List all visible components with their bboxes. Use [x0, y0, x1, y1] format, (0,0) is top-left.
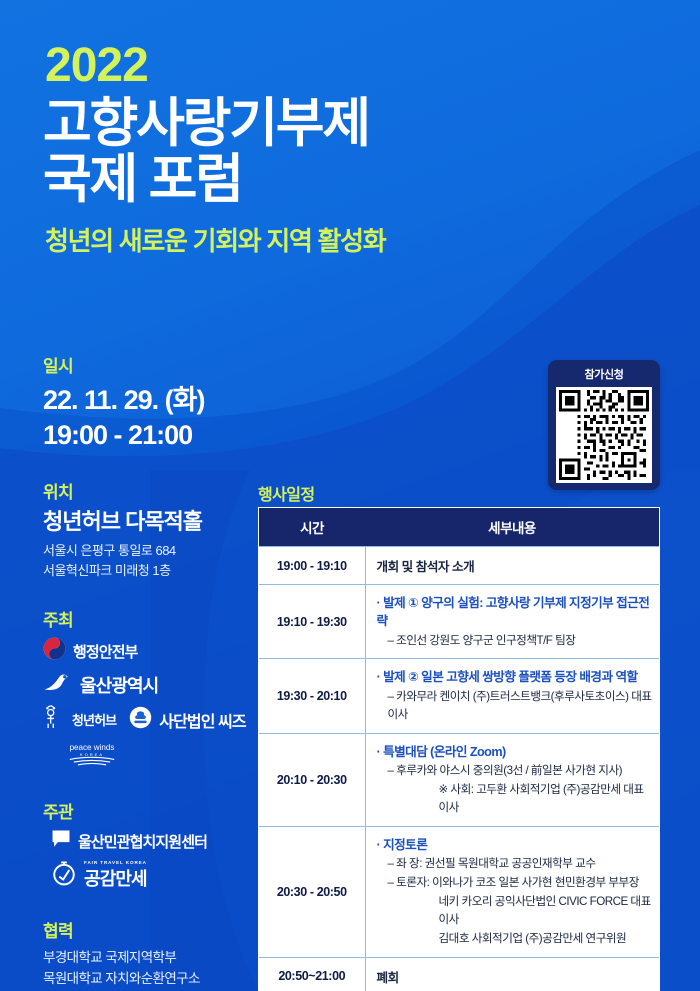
- table-row: 20:50~21:00 폐회: [259, 957, 659, 991]
- hosts-block: 주최 행정안전부 울산광역시: [43, 606, 258, 772]
- schedule-table: 시간 세부내용 19:00 - 19:10 개회 및 참석자 소개 19:10 …: [259, 508, 659, 991]
- organizer-name-ulsan-center: 울산민관협치지원센터: [78, 831, 207, 852]
- row-detail: · 지정토론 – 좌 장: 권선필 목원대학교 공공인재학부 교수 – 토론자:…: [365, 826, 659, 957]
- row-time: 20:10 - 20:30: [259, 733, 365, 826]
- title-line-2: 국제 포럼: [43, 152, 513, 208]
- cooperation-block: 협력 부경대학교 국제지역학부 목원대학교 자치와순환연구소 OH MY EAR…: [43, 917, 258, 991]
- row-time: 19:10 - 19:30: [259, 585, 365, 659]
- table-header-row: 시간 세부내용: [259, 508, 659, 547]
- youth-hub-icon: [43, 704, 65, 735]
- compass-icon: [51, 860, 77, 891]
- poster-header: 2022 고향사랑기부제 국제 포럼 청년의 새로운 기회와 지역 활성화: [43, 42, 513, 254]
- row-detail-head: · 특별대담 (온라인 Zoom): [377, 743, 654, 761]
- location-label: 위치: [43, 478, 258, 503]
- row-detail: · 특별대담 (온라인 Zoom) – 후루카와 야스시 중의원(3선 / 前일…: [365, 733, 659, 826]
- row-detail-head: · 발제 ② 일본 고향세 쌍방향 플랫폼 등장 배경과 역할: [377, 668, 654, 686]
- row-detail-sub: – 후루카와 야스시 중의원(3선 / 前일본 사가현 지사): [377, 762, 654, 780]
- registration-qr-card[interactable]: 참가신청: [548, 360, 660, 490]
- location-block: 위치 청년허브 다목적홀 서울시 은평구 통일로 684 서울혁신파크 미래청 …: [43, 478, 258, 580]
- row-detail-sub: – 카와무라 켄이치 (주)트러스트뱅크(후루사토초이스) 대표이사: [377, 688, 654, 724]
- svg-text:peace winds: peace winds: [70, 743, 115, 752]
- row-detail-head: · 지정토론: [377, 836, 654, 854]
- qr-caption: 참가신청: [548, 360, 660, 387]
- row-time: 19:00 - 19:10: [259, 547, 365, 585]
- taegeuk-icon: [43, 637, 66, 665]
- host-name-moi: 행정안전부: [73, 641, 138, 662]
- organizer-gonggam-text: FAIR TRAVEL KOREA 공감만세: [84, 861, 147, 892]
- title-line-1: 고향사랑기부제: [43, 94, 369, 153]
- table-row: 20:10 - 20:30 · 특별대담 (온라인 Zoom) – 후루카와 야…: [259, 733, 659, 826]
- cooperation-label: 협력: [43, 917, 258, 942]
- datetime-label: 일시: [43, 352, 258, 377]
- host-logo-moi: 행정안전부: [43, 637, 258, 665]
- row-detail: 폐회: [365, 957, 659, 991]
- table-row: 20:30 - 20:50 · 지정토론 – 좌 장: 권선필 목원대학교 공공…: [259, 826, 659, 957]
- poster-subtitle: 청년의 새로운 기회와 지역 활성화: [45, 228, 513, 254]
- host-name-youth-hub: 청년허브: [72, 710, 116, 729]
- host-logo-row-youth-seeds: 청년허브 사단법인 씨즈: [43, 704, 258, 735]
- cooperation-line-1: 부경대학교 국제지역학부: [43, 948, 258, 968]
- info-column: 일시 22. 11. 29. (화) 19:00 - 21:00 위치 청년허브…: [43, 352, 258, 991]
- row-detail-sub: – 토론자: 이와나가 코조 일본 사가현 현민환경부 부부장: [377, 874, 654, 892]
- schedule-label: 행사일정: [258, 481, 314, 505]
- column-header-detail: 세부내용: [365, 508, 659, 547]
- row-detail-sub: 네키 카오리 공익사단법인 CIVIC FORCE 대표이사: [377, 893, 654, 929]
- organizer-logo-ulsan-center: 울산민관협치지원센터: [51, 829, 258, 854]
- seeds-icon: [129, 706, 152, 734]
- row-detail: · 발제 ① 양구의 실험: 고향사랑 기부제 지정기부 접근전략 – 조인선 …: [365, 585, 659, 659]
- row-detail: 개회 및 참석자 소개: [365, 547, 659, 585]
- row-time: 20:50~21:00: [259, 957, 365, 991]
- hosts-label: 주최: [43, 606, 258, 631]
- venue-address-line-1: 서울시 은평구 통일로 684: [43, 541, 258, 561]
- row-time: 20:30 - 20:50: [259, 826, 365, 957]
- row-detail-head: · 발제 ① 양구의 실험: 고향사랑 기부제 지정기부 접근전략: [377, 594, 654, 631]
- organizers-label: 주관: [43, 798, 258, 823]
- page-title: 고향사랑기부제 국제 포럼: [43, 96, 513, 208]
- column-header-time: 시간: [259, 508, 365, 547]
- speech-bubble-icon: [51, 829, 71, 854]
- event-time: 19:00 - 21:00: [43, 418, 258, 453]
- host-logo-peace-winds: peace winds KOREA: [55, 741, 258, 772]
- host-name-seeds: 사단법인 씨즈: [159, 708, 245, 732]
- venue-name: 청년허브 다목적홀: [43, 509, 258, 535]
- ulsan-whale-icon: [43, 671, 73, 698]
- row-detail-sub: – 조인선 강원도 양구군 인구정책T/F 팀장: [377, 632, 654, 650]
- organizer-name-gonggam: 공감만세: [84, 869, 147, 889]
- host-logo-ulsan: 울산광역시: [43, 671, 258, 698]
- qr-code-icon[interactable]: [556, 387, 652, 483]
- row-detail-text: 폐회: [377, 967, 654, 986]
- row-detail-text: 개회 및 참석자 소개: [377, 556, 654, 575]
- venue-address-line-2: 서울혁신파크 미래청 1층: [43, 561, 258, 581]
- table-row: 19:00 - 19:10 개회 및 참석자 소개: [259, 547, 659, 585]
- schedule-table-wrapper: 시간 세부내용 19:00 - 19:10 개회 및 참석자 소개 19:10 …: [258, 507, 660, 991]
- row-detail: · 발제 ② 일본 고향세 쌍방향 플랫폼 등장 배경과 역할 – 카와무라 켄…: [365, 659, 659, 733]
- organizer-logo-gonggam: FAIR TRAVEL KOREA 공감만세: [51, 860, 258, 891]
- event-poster: 2022 고향사랑기부제 국제 포럼 청년의 새로운 기회와 지역 활성화 일시…: [0, 0, 700, 991]
- table-row: 19:30 - 20:10 · 발제 ② 일본 고향세 쌍방향 플랫폼 등장 배…: [259, 659, 659, 733]
- host-name-ulsan: 울산광역시: [80, 672, 158, 698]
- organizer-gonggam-sub: FAIR TRAVEL KOREA: [84, 861, 147, 866]
- organizers-block: 주관 울산민관협치지원센터 FAIR: [43, 798, 258, 891]
- cooperation-line-2: 목원대학교 자치와순환연구소: [43, 969, 258, 989]
- row-time: 19:30 - 20:10: [259, 659, 365, 733]
- row-detail-sub: – 좌 장: 권선필 목원대학교 공공인재학부 교수: [377, 855, 654, 873]
- year-label: 2022: [45, 42, 513, 90]
- table-row: 19:10 - 19:30 · 발제 ① 양구의 실험: 고향사랑 기부제 지정…: [259, 585, 659, 659]
- row-detail-sub: ※ 사회: 고두환 사회적기업 (주)공감만세 대표이사: [377, 781, 654, 817]
- svg-text:KOREA: KOREA: [80, 753, 104, 758]
- datetime-block: 일시 22. 11. 29. (화) 19:00 - 21:00: [43, 352, 258, 452]
- peace-winds-icon: peace winds KOREA: [55, 741, 129, 772]
- row-detail-sub: 김대호 사회적기업 (주)공감만세 연구위원: [377, 930, 654, 948]
- event-date: 22. 11. 29. (화): [43, 383, 258, 418]
